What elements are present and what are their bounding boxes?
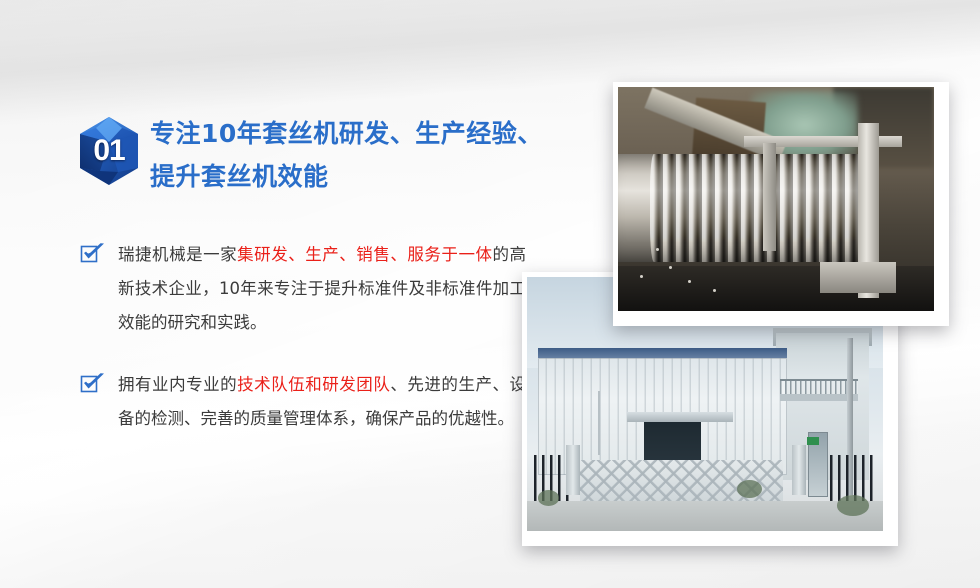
- bullet-text-1: 瑞捷机械是一家集研发、生产、销售、服务于一体的高新技术企业，10年来专注于提升标…: [118, 238, 526, 340]
- threaded-pipe-caliper-photo-image: 车间内正在测量的套丝螺纹钢管与卡尺: [618, 87, 934, 311]
- bullet-1-part-1: 瑞捷机械是一家: [118, 245, 237, 264]
- section-title-line-2: 提升套丝机效能: [150, 155, 550, 198]
- list-item: 拥有业内专业的技术队伍和研发团队、先进的生产、设备的检测、完善的质量管理体系，确…: [78, 368, 526, 436]
- bullet-2-highlight: 技术队伍和研发团队: [237, 375, 390, 394]
- section-number-text: 01: [78, 116, 140, 186]
- bullet-text-2: 拥有业内专业的技术队伍和研发团队、先进的生产、设备的检测、完善的质量管理体系，确…: [118, 368, 526, 436]
- checkbox-checked-icon: [80, 242, 106, 266]
- section-title-line-1: 专注10年套丝机研发、生产经验、: [150, 112, 550, 155]
- content-column: 01 专注10年套丝机研发、生产经验、 提升套丝机效能 瑞捷机械是一家集研发、生…: [78, 112, 548, 202]
- bullet-2-part-1: 拥有业内专业的: [118, 375, 237, 394]
- bullet-list: 瑞捷机械是一家集研发、生产、销售、服务于一体的高新技术企业，10年来专注于提升标…: [78, 238, 526, 464]
- threaded-pipe-caliper-photo: 车间内正在测量的套丝螺纹钢管与卡尺: [613, 82, 949, 326]
- checkbox-checked-icon: [80, 372, 106, 396]
- section-number-badge: 01: [78, 116, 140, 186]
- promo-banner: 01 专注10年套丝机研发、生产经验、 提升套丝机效能 瑞捷机械是一家集研发、生…: [0, 0, 980, 588]
- bullet-1-highlight: 集研发、生产、销售、服务于一体: [237, 245, 492, 264]
- section-header: 01 专注10年套丝机研发、生产经验、 提升套丝机效能: [78, 112, 548, 202]
- list-item: 瑞捷机械是一家集研发、生产、销售、服务于一体的高新技术企业，10年来专注于提升标…: [78, 238, 526, 340]
- section-title: 专注10年套丝机研发、生产经验、 提升套丝机效能: [150, 112, 550, 198]
